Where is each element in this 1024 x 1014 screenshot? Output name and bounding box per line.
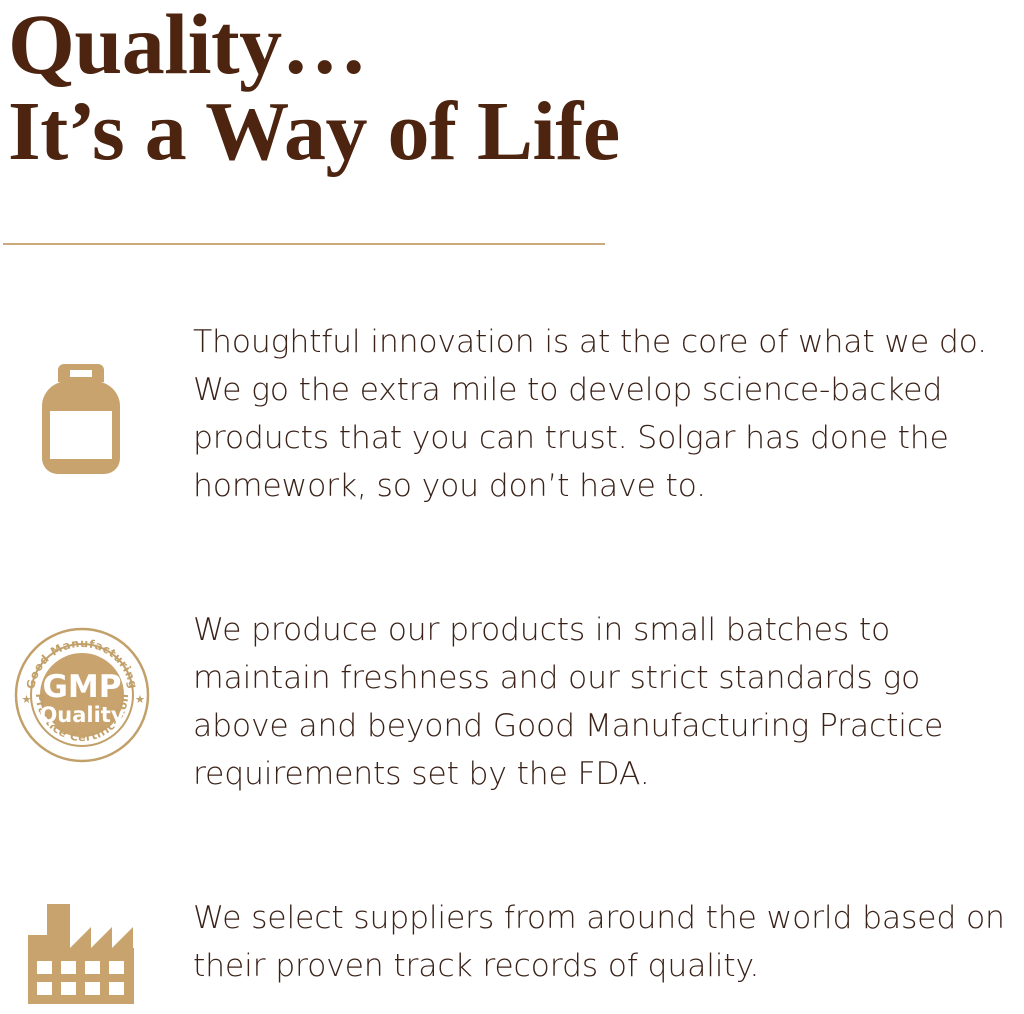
gmp-star-right-icon: ★ xyxy=(135,693,146,706)
page-title-line-2: It’s a Way of Life xyxy=(8,86,1008,178)
gmp-star-left-icon: ★ xyxy=(22,693,33,706)
feature-icon-cell xyxy=(0,318,193,319)
feature-row-innovation: Thoughtful innovation is at the core of … xyxy=(0,318,1024,606)
feature-text-cell: Thoughtful innovation is at the core of … xyxy=(193,318,1024,510)
feature-icon-cell xyxy=(0,894,193,895)
gmp-center-line-1: GMP xyxy=(42,669,121,705)
feature-paragraph-text: We produce our products in small batches… xyxy=(193,606,1024,798)
heading-divider xyxy=(3,243,605,245)
quality-page: Quality… It’s a Way of Life xyxy=(0,0,1024,1001)
page-title: Quality… It’s a Way of Life xyxy=(8,0,1008,178)
page-title-line-1: Quality… xyxy=(8,0,1008,92)
supplement-bottle-icon xyxy=(42,364,120,474)
feature-text-cell: We produce our products in small batches… xyxy=(193,606,1024,798)
feature-paragraph: We select suppliers from around the worl… xyxy=(193,894,1024,990)
feature-text-cell: We select suppliers from around the worl… xyxy=(193,894,1024,990)
feature-paragraph: Thoughtful innovation is at the core of … xyxy=(193,318,1024,510)
feature-paragraph-text: We select suppliers from around the worl… xyxy=(193,894,1024,990)
gmp-quality-seal-icon: Good Manufacturing Practice Certificatio… xyxy=(14,627,150,763)
gmp-center-line-2: Quality xyxy=(39,703,124,727)
feature-paragraph-text: Thoughtful innovation is at the core of … xyxy=(193,318,1024,510)
factory-icon xyxy=(28,904,134,1004)
feature-row-suppliers: We select suppliers from around the worl… xyxy=(0,894,1024,1014)
feature-icon-cell: Good Manufacturing Practice Certificatio… xyxy=(0,606,193,607)
feature-paragraph: We produce our products in small batches… xyxy=(193,606,1024,798)
feature-row-gmp: Good Manufacturing Practice Certificatio… xyxy=(0,606,1024,894)
feature-list: Thoughtful innovation is at the core of … xyxy=(0,318,1024,1014)
